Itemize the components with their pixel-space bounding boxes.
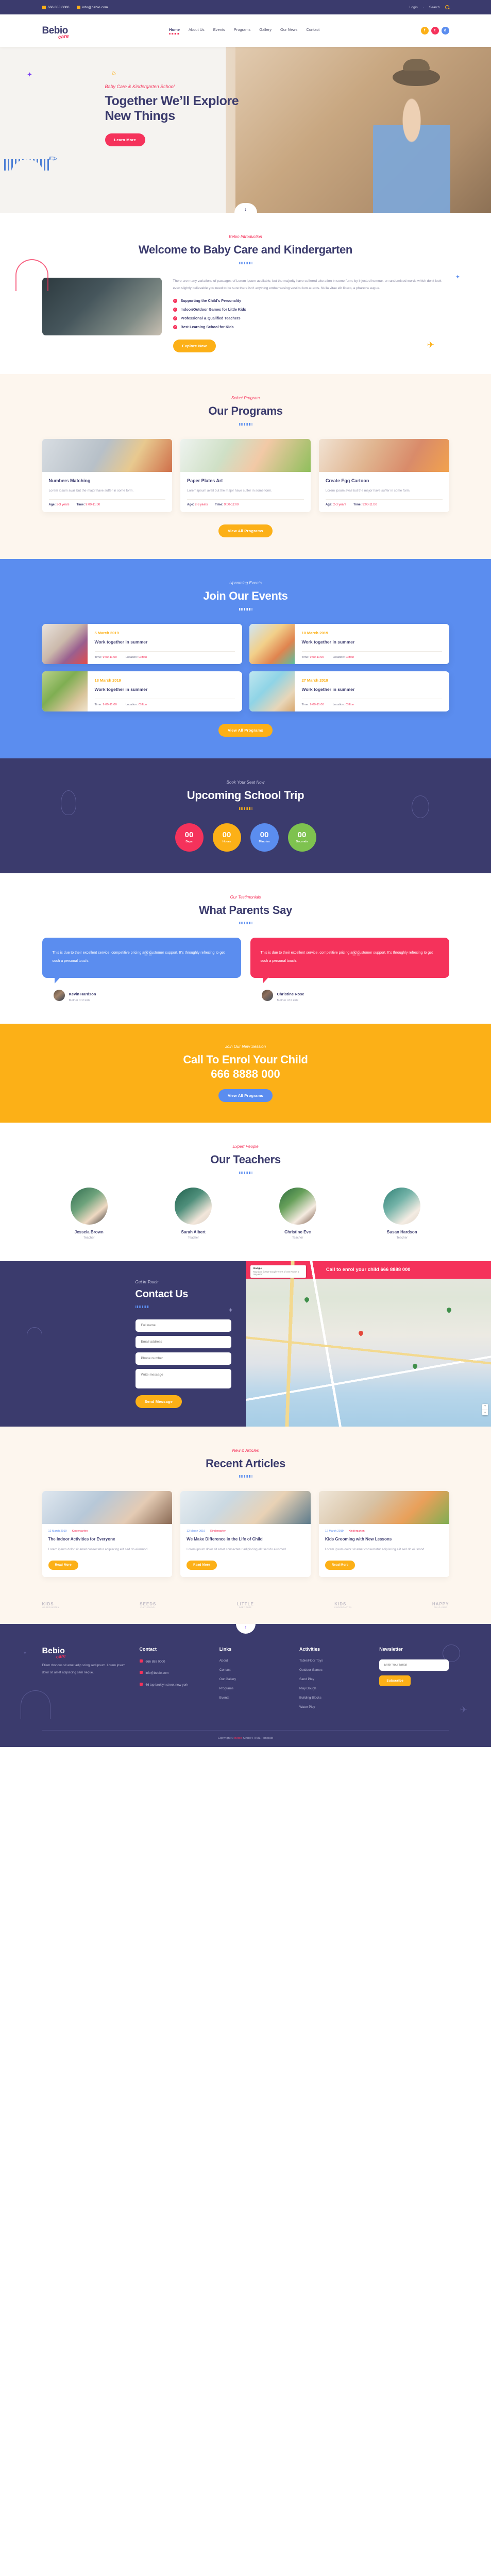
map-panel[interactable]: Google Map data ©2019 Google Terms of Us… — [246, 1261, 491, 1427]
footer-links-heading: Links — [219, 1647, 289, 1652]
star-outline-doodle-icon: ✦ — [455, 274, 460, 280]
bird-doodle-icon: ❞ — [24, 1651, 27, 1657]
article-desc: Lorem ipsum dolor sit amet consectetur a… — [48, 1547, 166, 1553]
squiggle-divider — [239, 1475, 252, 1478]
program-desc: Lorem ipsum avail but the major have suf… — [49, 487, 166, 500]
dotted-path-doodle-icon — [4, 159, 50, 171]
contact-eyebrow: Get in Touch — [136, 1280, 231, 1284]
article-card[interactable]: 12 March 2019 Kindergarten The Indoor Ac… — [42, 1491, 173, 1577]
topbar-phone-text: 666 888 0000 — [48, 6, 70, 9]
phone-icon — [42, 6, 46, 9]
event-image — [42, 671, 88, 711]
topbar-email[interactable]: info@bebio.com — [77, 6, 108, 9]
footer-activity-sand-play[interactable]: Sand Play — [299, 1677, 369, 1681]
program-age: Age: 2-3 years — [49, 503, 70, 506]
school-trip-section: Book Your Seat Now Upcoming School Trip … — [0, 758, 491, 873]
enrol-view-programs-button[interactable]: View All Programs — [218, 1089, 273, 1102]
topbar-phone[interactable]: 666 888 0000 — [42, 6, 70, 9]
programs-eyebrow: Select Program — [42, 396, 449, 400]
program-time: Time: 9:00-11:00 — [77, 503, 100, 506]
send-message-button[interactable]: Send Message — [136, 1395, 182, 1408]
feature-item: ✓ Professional & Qualified Teachers — [173, 316, 449, 320]
logo-subtext: care — [58, 34, 70, 40]
program-image — [42, 439, 173, 472]
event-time: Time: 9:00-11:00 — [302, 656, 324, 659]
newsletter-subscribe-button[interactable]: Subscribe — [379, 1675, 411, 1686]
footer-activity-play-dough[interactable]: Play Dough — [299, 1687, 369, 1690]
footer-activity-building-blocks[interactable]: Building Blocks — [299, 1696, 369, 1700]
event-image — [42, 624, 88, 664]
nav-item-our-news[interactable]: Our News — [280, 27, 297, 35]
welcome-image — [42, 278, 162, 335]
teacher-name: Jesscia Brown — [42, 1230, 137, 1234]
footer-phone[interactable]: 666 888 0000 — [140, 1659, 209, 1665]
back-to-top-button[interactable]: ↑ — [236, 1624, 256, 1634]
enrol-cta-section: Join Our New Session Call To Enrol Your … — [0, 1024, 491, 1123]
program-time: Time: 9:00-11:00 — [353, 503, 377, 506]
social-links: f t d — [421, 27, 449, 35]
feature-item: ✓ Best Learning School for Kids — [173, 325, 449, 329]
site-footer: ↑ ✈ ❞ Bebio care Etiam rhoncus sit amet … — [0, 1624, 491, 1747]
event-card[interactable]: 18 March 2019 Work together in summer Ti… — [42, 671, 242, 711]
check-icon: ✓ — [173, 308, 177, 312]
squiggle-divider — [239, 922, 252, 924]
teacher-name: Christine Eve — [251, 1230, 345, 1234]
article-title: Kids Grooming with New Lessons — [325, 1536, 443, 1543]
squiggle-divider — [239, 262, 252, 264]
article-category: Kindergarten — [210, 1530, 226, 1533]
programs-title: Our Programs — [42, 404, 449, 418]
teachers-section: Expert People Our Teachers Jesscia Brown… — [0, 1123, 491, 1261]
enrol-phone: 666 8888 000 — [42, 1067, 449, 1081]
nav-item-gallery[interactable]: Gallery — [259, 27, 272, 35]
nav-item-events[interactable]: Events — [213, 27, 225, 35]
article-card[interactable]: 12 March 2019 Kindergarten Kids Grooming… — [319, 1491, 449, 1577]
hero-learn-more-button[interactable]: Learn More — [105, 133, 145, 146]
articles-section: New & Articles Recent Articles 12 March … — [0, 1427, 491, 1599]
testimonial-text: This is due to their excellent service, … — [261, 949, 439, 965]
squiggle-divider — [239, 1172, 252, 1174]
search-icon[interactable] — [445, 5, 449, 9]
footer-activity-outdoor-games[interactable]: Outdoor Games — [299, 1668, 369, 1672]
testimonial-name: Kevin Hardson — [69, 992, 96, 996]
full-name-input[interactable] — [136, 1319, 231, 1332]
footer-activity-table-floor-toys[interactable]: Table/Floor Toys — [299, 1659, 369, 1663]
article-date: 12 March 2019 — [325, 1530, 344, 1533]
pencil-doodle-icon: ✎ — [46, 151, 61, 167]
teacher-photo — [279, 1188, 316, 1225]
footer-contact-heading: Contact — [140, 1647, 209, 1652]
check-icon: ✓ — [173, 299, 177, 303]
event-date: 27 March 2019 — [302, 678, 442, 683]
event-time: Time: 9:00-11:00 — [95, 656, 117, 659]
dribbble-icon[interactable]: d — [442, 27, 449, 35]
program-card[interactable]: Paper Plates Art Lorem ipsum avail but t… — [180, 439, 311, 512]
teacher-card[interactable]: Jesscia Brown Teacher — [42, 1188, 137, 1240]
event-image — [249, 671, 295, 711]
phone-icon — [140, 1659, 143, 1663]
welcome-eyebrow: Bebio Introduction — [42, 234, 449, 239]
trip-eyebrow: Book Your Seat Now — [42, 780, 449, 785]
program-desc: Lorem ipsum avail but the major have suf… — [326, 487, 443, 500]
copyright-brand-link[interactable]: Bebio — [234, 1737, 242, 1740]
footer-link-our-gallery[interactable]: Our Gallery — [219, 1677, 289, 1681]
email-input[interactable] — [136, 1336, 231, 1348]
events-eyebrow: Upcoming Events — [42, 581, 449, 585]
teacher-name: Sarah Albert — [146, 1230, 241, 1234]
feature-label: Supporting the Child's Personality — [181, 298, 242, 303]
map-zoom-out-button[interactable]: − — [482, 1410, 488, 1415]
article-title: We Make Difference in the Life of Child — [187, 1536, 304, 1543]
teacher-photo — [175, 1188, 212, 1225]
airplane-doodle-icon: ✈ — [460, 1705, 467, 1715]
nav-item-home[interactable]: Home — [169, 27, 180, 35]
map-roads — [246, 1261, 491, 1427]
program-desc: Lorem ipsum avail but the major have suf… — [187, 487, 304, 500]
event-date: 5 March 2019 — [95, 631, 235, 635]
map-zoom-in-button[interactable]: + — [482, 1404, 488, 1410]
map-title: Google — [253, 1267, 303, 1270]
event-image — [249, 624, 295, 664]
articles-eyebrow: New & Articles — [42, 1448, 449, 1453]
program-card[interactable]: Numbers Matching Lorem ipsum avail but t… — [42, 439, 173, 512]
contact-form: Send Message — [136, 1319, 231, 1408]
article-read-more-button[interactable]: Read More — [325, 1561, 355, 1570]
map-marker-icon — [140, 1683, 143, 1686]
teacher-role: Teacher — [42, 1236, 137, 1240]
envelope-icon — [77, 6, 80, 9]
feature-label: Indoor/Outdoor Games for Little Kids — [181, 307, 246, 312]
sun-doodle-icon: ☼ — [111, 69, 117, 76]
footer-activity-water-play[interactable]: Water Play — [299, 1705, 369, 1709]
event-location: Location: Clifton — [333, 703, 354, 706]
footer-newsletter-heading: Newsletter — [379, 1647, 449, 1652]
trip-title: Upcoming School Trip — [42, 788, 449, 803]
view-all-events-button[interactable]: View All Programs — [218, 724, 273, 737]
topbar-email-text: info@bebio.com — [82, 6, 108, 9]
program-age: Age: 2-3 years — [187, 503, 208, 506]
program-time: Time: 9:00-11:00 — [215, 503, 239, 506]
event-date: 18 March 2019 — [95, 678, 235, 683]
testimonial-role: Mother of 2 kids — [277, 999, 304, 1002]
feature-item: ✓ Indoor/Outdoor Games for Little Kids — [173, 307, 449, 312]
events-title: Join Our Events — [42, 589, 449, 603]
squiggle-divider — [136, 1306, 149, 1308]
squiggle-divider — [239, 807, 252, 810]
footer-activities-heading: Activities — [299, 1647, 369, 1652]
testimonials-section: Our Testimonials What Parents Say “ This… — [0, 873, 491, 1024]
article-desc: Lorem ipsum dolor sit amet consectetur a… — [325, 1547, 443, 1553]
newsletter-email-input[interactable] — [379, 1659, 449, 1671]
teachers-eyebrow: Expert People — [42, 1144, 449, 1149]
program-title: Create Egg Cartoon — [326, 478, 443, 483]
teacher-card[interactable]: Susan Hardson Teacher — [355, 1188, 449, 1240]
nav-item-about-us[interactable]: About Us — [189, 27, 205, 35]
footer-links-column: Links About Contact Our Gallery Programs… — [219, 1647, 289, 1715]
search-label[interactable]: Search — [429, 6, 440, 9]
contact-section: ✦ Get in Touch Contact Us Send Message G… — [0, 1261, 491, 1427]
squiggle-divider — [239, 608, 252, 611]
primary-menu: Home About Us Events Programs Gallery Ou… — [169, 27, 319, 35]
event-time: Time: 9:00-11:00 — [95, 703, 117, 706]
squiggle-divider — [239, 423, 252, 426]
article-image — [319, 1491, 449, 1524]
teacher-photo — [71, 1188, 108, 1225]
countdown-seconds: 00Seconds — [288, 823, 316, 852]
program-title: Numbers Matching — [49, 478, 166, 483]
article-category: Kindergarten — [349, 1530, 365, 1533]
countdown-hours: 00Hours — [213, 823, 241, 852]
article-category: Kindergarten — [72, 1530, 88, 1533]
testimonial-card: “ This is due to their excellent service… — [42, 938, 241, 1002]
enrol-eyebrow: Join Our New Session — [42, 1044, 449, 1049]
welcome-title: Welcome to Baby Care and Kindergarten — [42, 243, 449, 257]
teacher-card[interactable]: Christine Eve Teacher — [251, 1188, 345, 1240]
article-card[interactable]: 12 March 2019 Kindergarten We Make Diffe… — [180, 1491, 311, 1577]
event-time: Time: 9:00-11:00 — [302, 703, 324, 706]
footer-contact-column: Contact 666 888 0000 info@bebio.com 66 t… — [140, 1647, 209, 1715]
event-location: Location: Clifton — [333, 656, 354, 659]
program-image — [319, 439, 449, 472]
contact-form-panel: ✦ Get in Touch Contact Us Send Message — [0, 1261, 246, 1427]
testimonial-card: “ This is due to their excellent service… — [250, 938, 449, 1002]
map-zoom-controls[interactable]: + − — [482, 1404, 488, 1415]
hero-eyebrow: Baby Care & Kindergarten School — [105, 84, 260, 89]
footer-logo[interactable]: Bebio care — [42, 1647, 65, 1655]
hero-title: Together We’ll Explore New Things — [105, 94, 260, 124]
program-title: Paper Plates Art — [187, 478, 304, 483]
facebook-icon[interactable]: f — [421, 27, 429, 35]
teacher-name: Susan Hardson — [355, 1230, 449, 1234]
footer-email[interactable]: info@bebio.com — [140, 1670, 209, 1676]
feature-item: ✓ Supporting the Child's Personality — [173, 298, 449, 303]
site-logo[interactable]: Bebio care — [42, 26, 68, 36]
envelope-icon — [140, 1671, 143, 1674]
footer-activities-column: Activities Table/Floor Toys Outdoor Game… — [299, 1647, 369, 1715]
programs-section: Select Program Our Programs Numbers Matc… — [0, 374, 491, 559]
enrol-title: Call To Enrol Your Child — [42, 1053, 449, 1067]
articles-title: Recent Articles — [42, 1456, 449, 1471]
feature-label: Best Learning School for Kids — [181, 325, 234, 329]
article-date: 12 March 2019 — [48, 1530, 67, 1533]
article-image — [180, 1491, 311, 1524]
article-date: 12 March 2019 — [187, 1530, 205, 1533]
map-search-box[interactable]: Google Map data ©2019 Google Terms of Us… — [250, 1265, 306, 1278]
nav-item-contact[interactable]: Contact — [306, 27, 319, 35]
article-read-more-button[interactable]: Read More — [48, 1561, 78, 1570]
testimonial-name: Christine Rose — [277, 992, 304, 996]
welcome-paragraph: There are many variations of passages of… — [173, 278, 449, 293]
countdown-minutes: 00Minutes — [250, 823, 279, 852]
footer-newsletter-column: Newsletter Subscribe — [379, 1647, 449, 1715]
hero-section: ✦ ☼ ✎ Baby Care & Kindergarten School To… — [0, 47, 491, 213]
testimonials-eyebrow: Our Testimonials — [42, 895, 449, 900]
article-image — [42, 1491, 173, 1524]
footer-link-programs[interactable]: Programs — [219, 1687, 289, 1690]
teacher-photo — [383, 1188, 420, 1225]
footer-link-contact[interactable]: Contact — [219, 1668, 289, 1672]
program-age: Age: 2-3 years — [326, 503, 346, 506]
teacher-role: Teacher — [355, 1236, 449, 1240]
footer-about-text: Etiam rhoncus sit amet adip scing sed ip… — [42, 1662, 129, 1677]
event-title: Work together in summer — [95, 639, 235, 645]
brand-logo: KIDSKINDERGARTEN — [42, 1602, 59, 1608]
map-subtitle: Map data ©2019 Google Terms of Use Repor… — [253, 1270, 303, 1276]
phone-input[interactable] — [136, 1352, 231, 1365]
teacher-role: Teacher — [146, 1236, 241, 1240]
brand-logos-section: KIDSKINDERGARTEN SEEDSPLAY SCHOOL LITTLE… — [0, 1599, 491, 1624]
article-read-more-button[interactable]: Read More — [187, 1561, 216, 1570]
check-icon: ✓ — [173, 316, 177, 320]
footer-link-events[interactable]: Events — [219, 1696, 289, 1700]
brand-logo: HAPPYCHILD CARE — [432, 1602, 449, 1608]
program-image — [180, 439, 311, 472]
teachers-title: Our Teachers — [42, 1153, 449, 1167]
testimonial-role: Mother of 2 kids — [69, 999, 96, 1002]
teacher-card[interactable]: Sarah Albert Teacher — [146, 1188, 241, 1240]
feature-label: Professional & Qualified Teachers — [181, 316, 241, 320]
check-icon: ✓ — [173, 325, 177, 329]
event-title: Work together in summer — [302, 686, 442, 692]
event-title: Work together in summer — [95, 686, 235, 692]
cloud-doodle-icon — [27, 1327, 42, 1335]
brand-logo: SEEDSPLAY SCHOOL — [140, 1602, 156, 1608]
star-doodle-icon: ✦ — [27, 71, 32, 79]
view-all-programs-button[interactable]: View All Programs — [218, 524, 273, 537]
brand-logo: LITTLEBABY CARE — [237, 1602, 254, 1608]
avatar — [54, 990, 65, 1001]
event-card[interactable]: 5 March 2019 Work together in summer Tim… — [42, 624, 242, 664]
countdown-days: 00Days — [175, 823, 204, 852]
event-location: Location: Clifton — [126, 656, 147, 659]
teacher-role: Teacher — [251, 1236, 345, 1240]
events-section: Upcoming Events Join Our Events 5 March … — [0, 559, 491, 758]
footer-address: 66 top broklyn street new york — [140, 1682, 209, 1688]
footer-brand-column: Bebio care Etiam rhoncus sit amet adip s… — [42, 1647, 129, 1715]
welcome-section: ✦ ✈ Bebio Introduction Welcome to Baby C… — [0, 213, 491, 374]
top-bar: 666 888 0000 info@bebio.com Login - Sear… — [0, 0, 491, 14]
main-navbar: Bebio care Home About Us Events Programs… — [0, 14, 491, 47]
footer-link-about[interactable]: About — [219, 1659, 289, 1663]
event-location: Location: Clifton — [126, 703, 147, 706]
testimonial-text: This is due to their excellent service, … — [53, 949, 231, 965]
avatar — [262, 990, 273, 1001]
program-card[interactable]: Create Egg Cartoon Lorem ipsum avail but… — [319, 439, 449, 512]
testimonials-title: What Parents Say — [42, 903, 449, 918]
event-title: Work together in summer — [302, 639, 442, 645]
countdown-timer: 00Days 00Hours 00Minutes 00Seconds — [42, 823, 449, 852]
event-card[interactable]: 10 March 2019 Work together in summer Ti… — [249, 624, 449, 664]
article-title: The Indoor Activities for Everyone — [48, 1536, 166, 1543]
welcome-explore-button[interactable]: Explore Now — [173, 340, 216, 352]
twitter-icon[interactable]: t — [431, 27, 439, 35]
message-textarea[interactable] — [136, 1369, 231, 1388]
article-desc: Lorem ipsum dolor sit amet consectetur a… — [187, 1547, 304, 1553]
nav-item-programs[interactable]: Programs — [234, 27, 251, 35]
contact-title: Contact Us — [136, 1288, 231, 1301]
event-card[interactable]: 27 March 2019 Work together in summer Ti… — [249, 671, 449, 711]
event-date: 10 March 2019 — [302, 631, 442, 635]
topbar-separator: - — [423, 6, 424, 9]
brand-logo: KIDSKINDERGARTEN — [334, 1602, 351, 1608]
footer-copyright: Copyright © Bebio Kinder HTML Template — [42, 1730, 449, 1747]
login-link[interactable]: Login — [410, 6, 418, 9]
